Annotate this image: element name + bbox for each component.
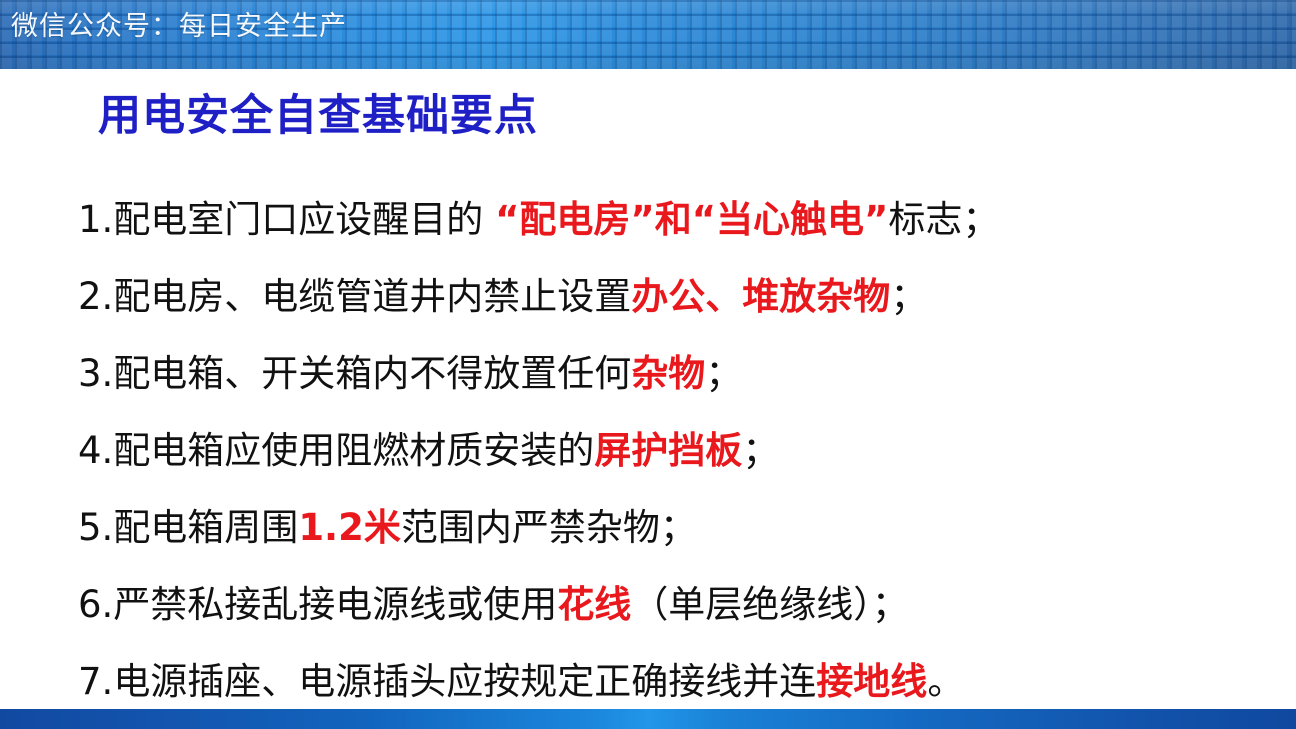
list-item: 5.配电箱周围1.2米范围内严禁杂物； <box>78 493 1238 570</box>
highlight-text: 杂物 <box>631 352 705 395</box>
list-item-number: 3. <box>78 352 113 395</box>
body-text: 配电室门口应设醒目的 <box>113 198 495 241</box>
highlight-text: 1.2米 <box>298 506 401 549</box>
footer-spacer <box>0 700 1296 709</box>
page-title: 用电安全自查基础要点 <box>98 88 538 144</box>
checklist: 1.配电室门口应设醒目的 “配电房”和“当心触电”标志；2.配电房、电缆管道井内… <box>78 185 1238 724</box>
list-item-number: 5. <box>78 506 113 549</box>
body-text: ； <box>742 429 779 472</box>
list-item: 3.配电箱、开关箱内不得放置任何杂物； <box>78 339 1238 416</box>
highlight-text: 花线 <box>557 583 631 626</box>
list-item: 2.配电房、电缆管道井内禁止设置办公、堆放杂物； <box>78 262 1238 339</box>
body-text: 。 <box>927 660 964 703</box>
highlight-text: 接地线 <box>816 660 927 703</box>
list-item: 4.配电箱应使用阻燃材质安装的屏护挡板； <box>78 416 1238 493</box>
body-text: 配电箱、开关箱内不得放置任何 <box>113 352 631 395</box>
list-item-number: 1. <box>78 198 113 241</box>
body-text: ； <box>705 352 742 395</box>
list-item-number: 7. <box>78 660 113 703</box>
list-item: 1.配电室门口应设醒目的 “配电房”和“当心触电”标志； <box>78 185 1238 262</box>
watermark-text: 微信公众号：每日安全生产 <box>11 9 347 45</box>
list-item-number: 4. <box>78 429 113 472</box>
list-item-number: 2. <box>78 275 113 318</box>
highlight-text: 办公、堆放杂物 <box>631 275 890 318</box>
highlight-text: 屏护挡板 <box>594 429 742 472</box>
list-item-number: 6. <box>78 583 113 626</box>
highlight-text: “配电房”和“当心触电” <box>495 198 888 241</box>
body-text: 配电箱周围 <box>113 506 298 549</box>
list-item: 6.严禁私接乱接电源线或使用花线（单层绝缘线）； <box>78 570 1238 647</box>
body-text: （单层绝缘线）； <box>631 583 909 626</box>
body-text: 配电房、电缆管道井内禁止设置 <box>113 275 631 318</box>
body-text: 配电箱应使用阻燃材质安装的 <box>113 429 594 472</box>
footer-bar <box>0 709 1296 729</box>
body-text: ； <box>890 275 927 318</box>
body-text: 标志； <box>888 198 999 241</box>
body-text: 严禁私接乱接电源线或使用 <box>113 583 557 626</box>
body-text: 范围内严禁杂物； <box>401 506 697 549</box>
body-text: 电源插座、电源插头应按规定正确接线并连 <box>113 660 816 703</box>
header-band: 微信公众号：每日安全生产 <box>0 0 1296 69</box>
